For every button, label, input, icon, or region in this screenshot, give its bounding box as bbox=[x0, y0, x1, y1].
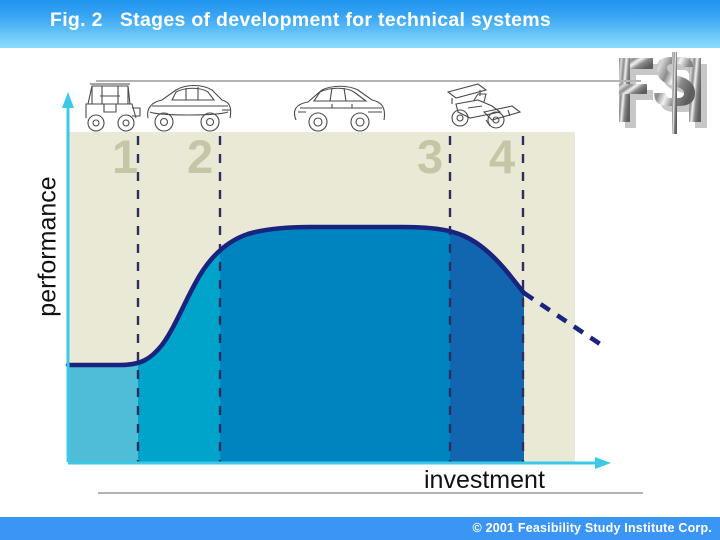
x-axis-label: investment bbox=[424, 466, 545, 495]
vehicle-icon-stage-1 bbox=[86, 84, 140, 131]
vehicle-icon-stage-3 bbox=[295, 86, 385, 131]
stage-label-4: 4 bbox=[489, 133, 515, 180]
slide-footer-bar: © 2001 Feasibility Study Institute Corp. bbox=[0, 517, 720, 540]
page-title: Fig. 2 Stages of development for technic… bbox=[50, 9, 551, 32]
vehicle-icon-stage-2 bbox=[148, 86, 231, 132]
y-axis-label: performance bbox=[34, 162, 63, 332]
stage-label-1: 1 bbox=[112, 133, 138, 180]
vehicle-icon-stage-4 bbox=[448, 84, 520, 128]
s-curve-chart bbox=[0, 60, 720, 500]
stage-label-2: 2 bbox=[187, 133, 213, 180]
slide-header-bar: Fig. 2 Stages of development for technic… bbox=[0, 0, 720, 48]
stage-label-3: 3 bbox=[417, 133, 443, 180]
copyright-notice: © 2001 Feasibility Study Institute Corp. bbox=[473, 521, 712, 535]
slide-canvas: Fig. 2 Stages of development for technic… bbox=[0, 0, 720, 540]
